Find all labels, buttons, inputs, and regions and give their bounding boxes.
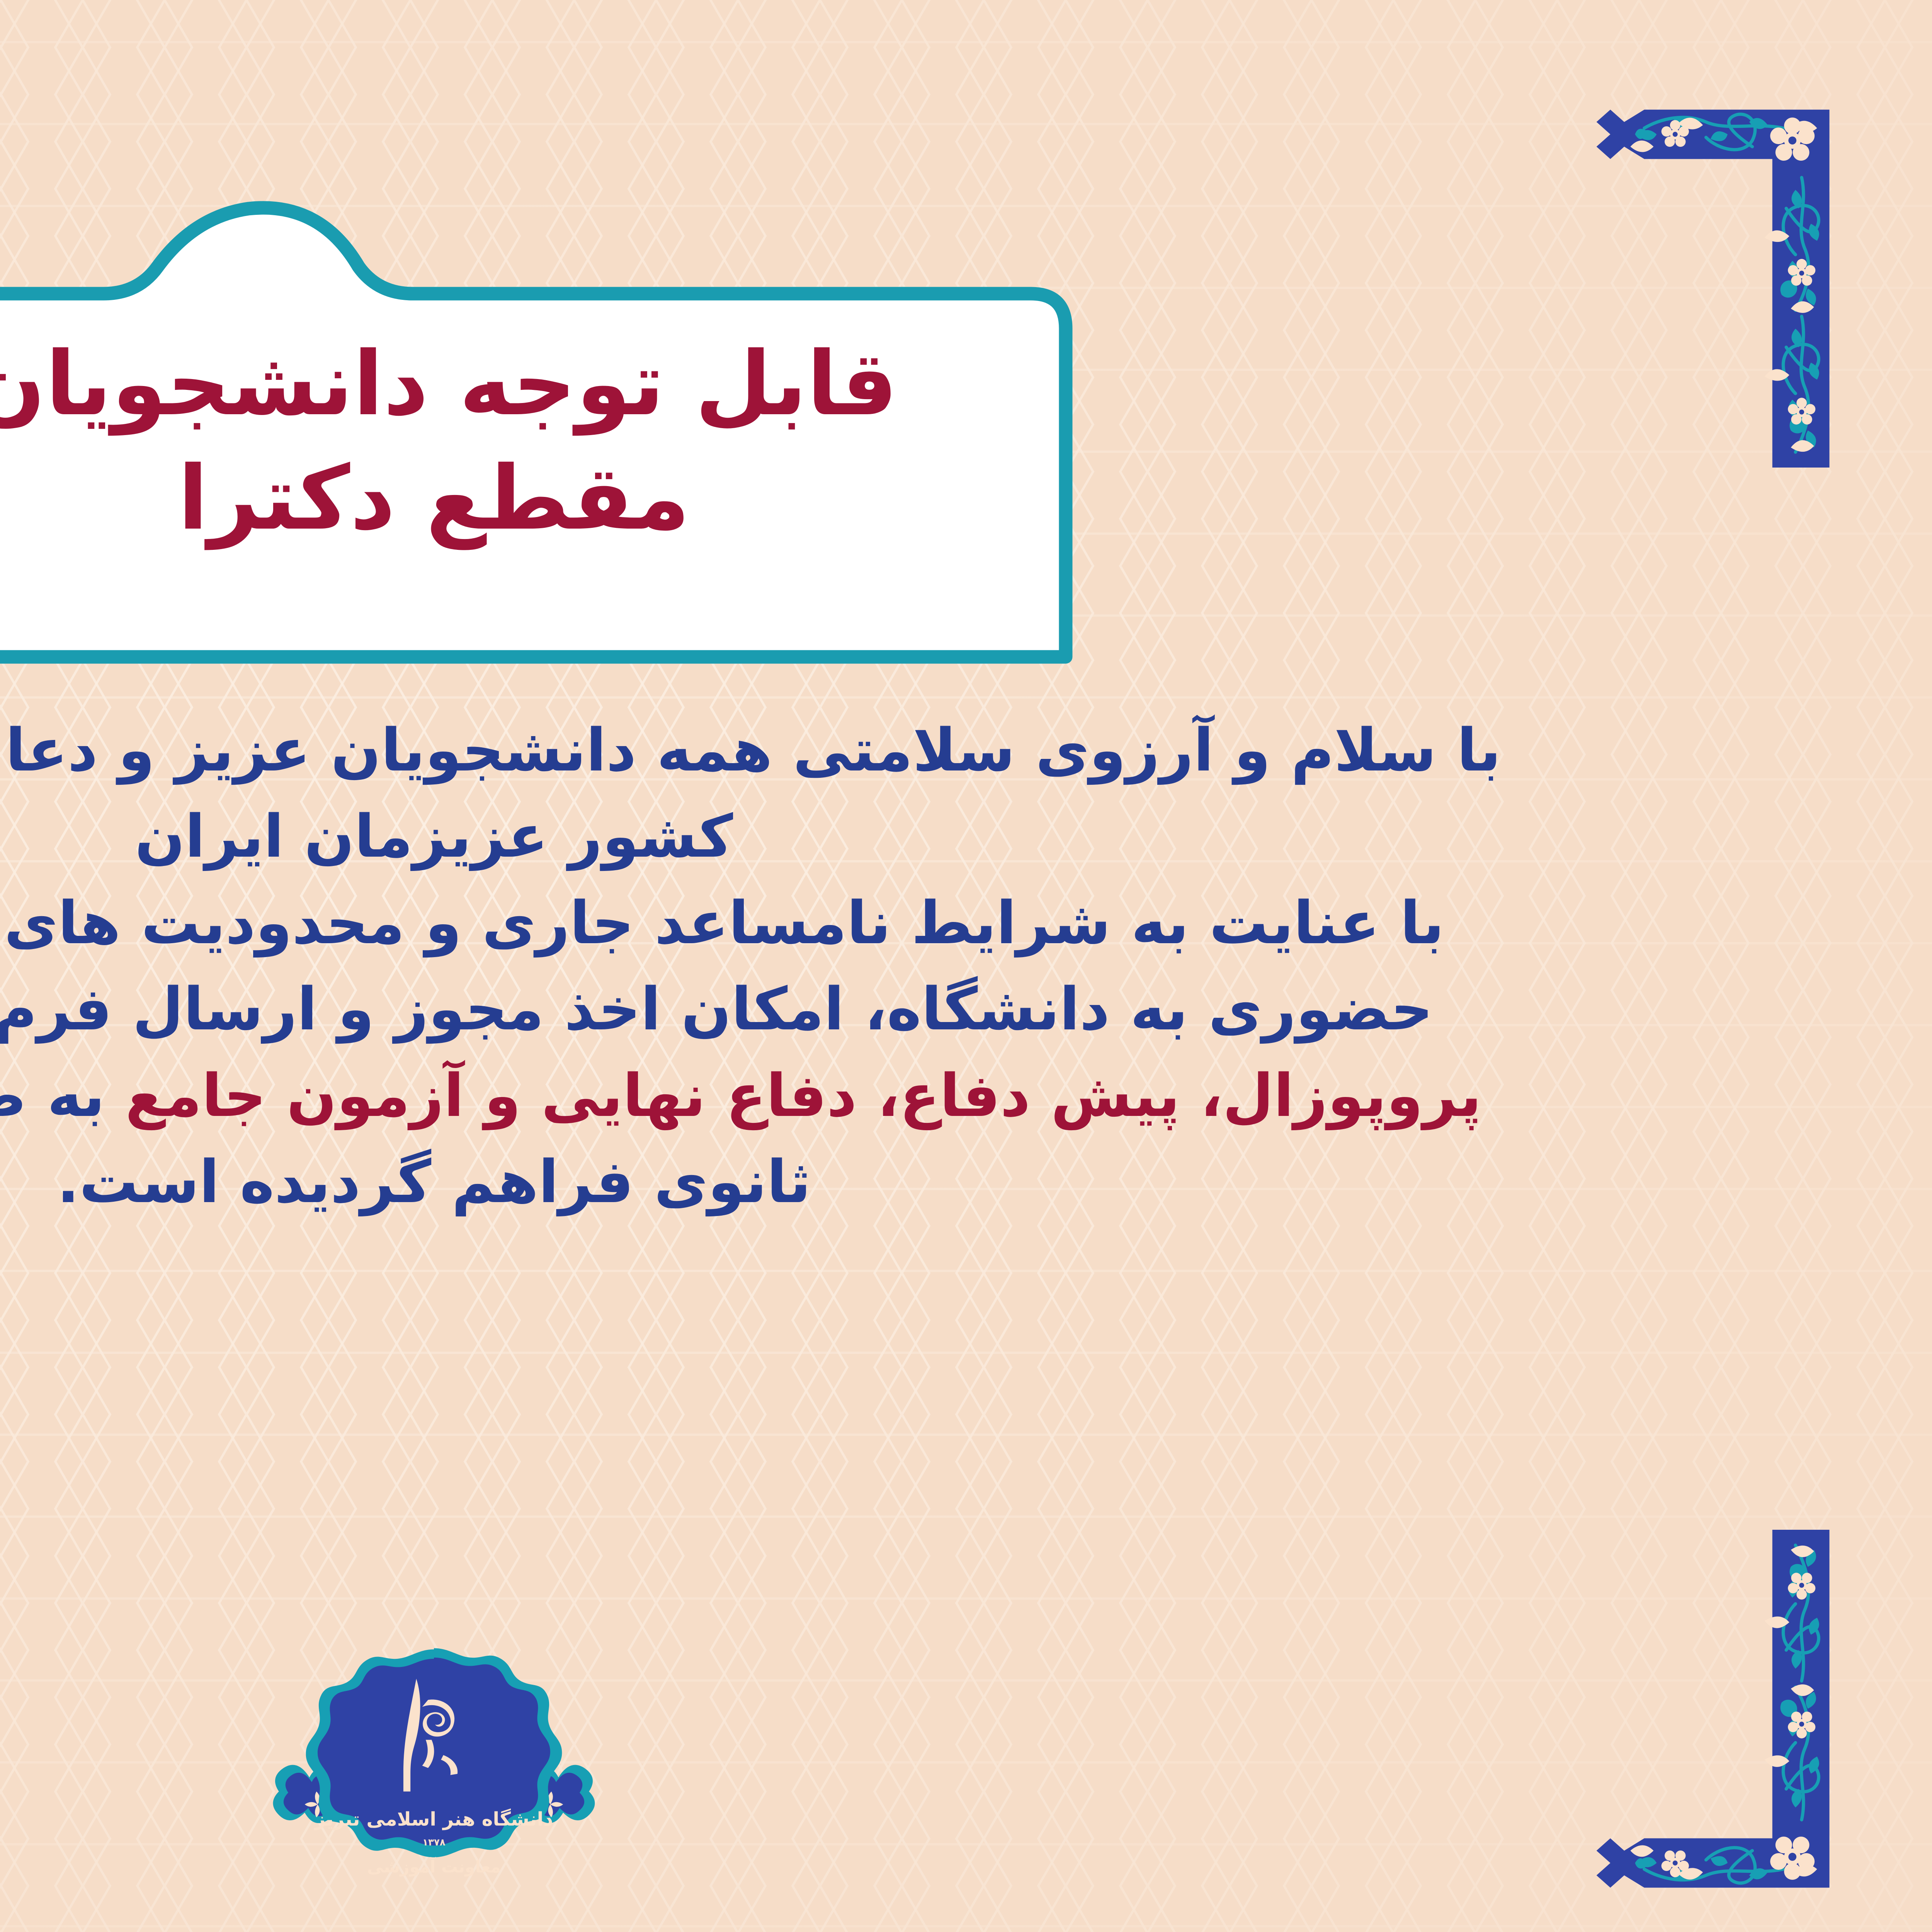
title-line-1: قابل توجه دانشجویان	[0, 327, 1043, 441]
body-segment: ثانوی فراهم گردیده است.	[57, 1148, 811, 1216]
body-segment: با سلام و آرزوی سلامتی همه دانشجویان عزی…	[0, 716, 1501, 784]
title-placard: قابل توجه دانشجویان مقطع دکترا	[0, 201, 1089, 665]
body-segment-highlight: پروپوزال، پیش دفاع، دفاع نهایی و آزمون ج…	[125, 1061, 1481, 1130]
body-line-2: کشور عزیزمان ایران	[0, 793, 1804, 879]
body-segment: به	[27, 1061, 125, 1130]
body-line-5: پروپوزال، پیش دفاع، دفاع نهایی و آزمون ج…	[0, 1053, 1804, 1139]
body-segment: کشور عزیزمان ایران	[135, 802, 733, 871]
body-segment: حضوری به دانشگاه، امکان اخذ مجوز و ارسال…	[0, 975, 1433, 1043]
logo-department: معاونت آموزشی	[367, 1857, 501, 1877]
logo-university-name: دانشگاه هنر اسلامی تبریز	[314, 1808, 553, 1830]
university-logo: دانشگاه هنر اسلامی تبریز ۱۳۷۸ معاونت آمو…	[233, 1634, 635, 1928]
corner-ornament-top-right	[1582, 54, 1876, 468]
body-segment: با عنایت به شرایط نامساعد جاری و محدودیت…	[0, 889, 1444, 957]
body-segment: صورت	[0, 1061, 27, 1130]
corner-ornament-bottom-right	[1582, 1530, 1876, 1932]
title-line-2: مقطع دکترا	[0, 441, 1043, 555]
body-copy: با سلام و آرزوی سلامتی همه دانشجویان عزی…	[0, 707, 1932, 1225]
announcement-poster: قابل توجه دانشجویان مقطع دکترا با سلام و…	[0, 0, 1932, 1932]
body-line-4: حضوری به دانشگاه، امکان اخذ مجوز و ارسال…	[0, 966, 1804, 1052]
placard-text-block: قابل توجه دانشجویان مقطع دکترا	[0, 327, 1089, 556]
logo-founded-year: ۱۳۷۸	[422, 1837, 446, 1848]
body-line-6: ثانوی فراهم گردیده است.	[0, 1139, 1804, 1225]
body-line-3: با عنایت به شرایط نامساعد جاری و محدودیت…	[0, 880, 1804, 966]
body-line-1: با سلام و آرزوی سلامتی همه دانشجویان عزی…	[0, 707, 1804, 793]
